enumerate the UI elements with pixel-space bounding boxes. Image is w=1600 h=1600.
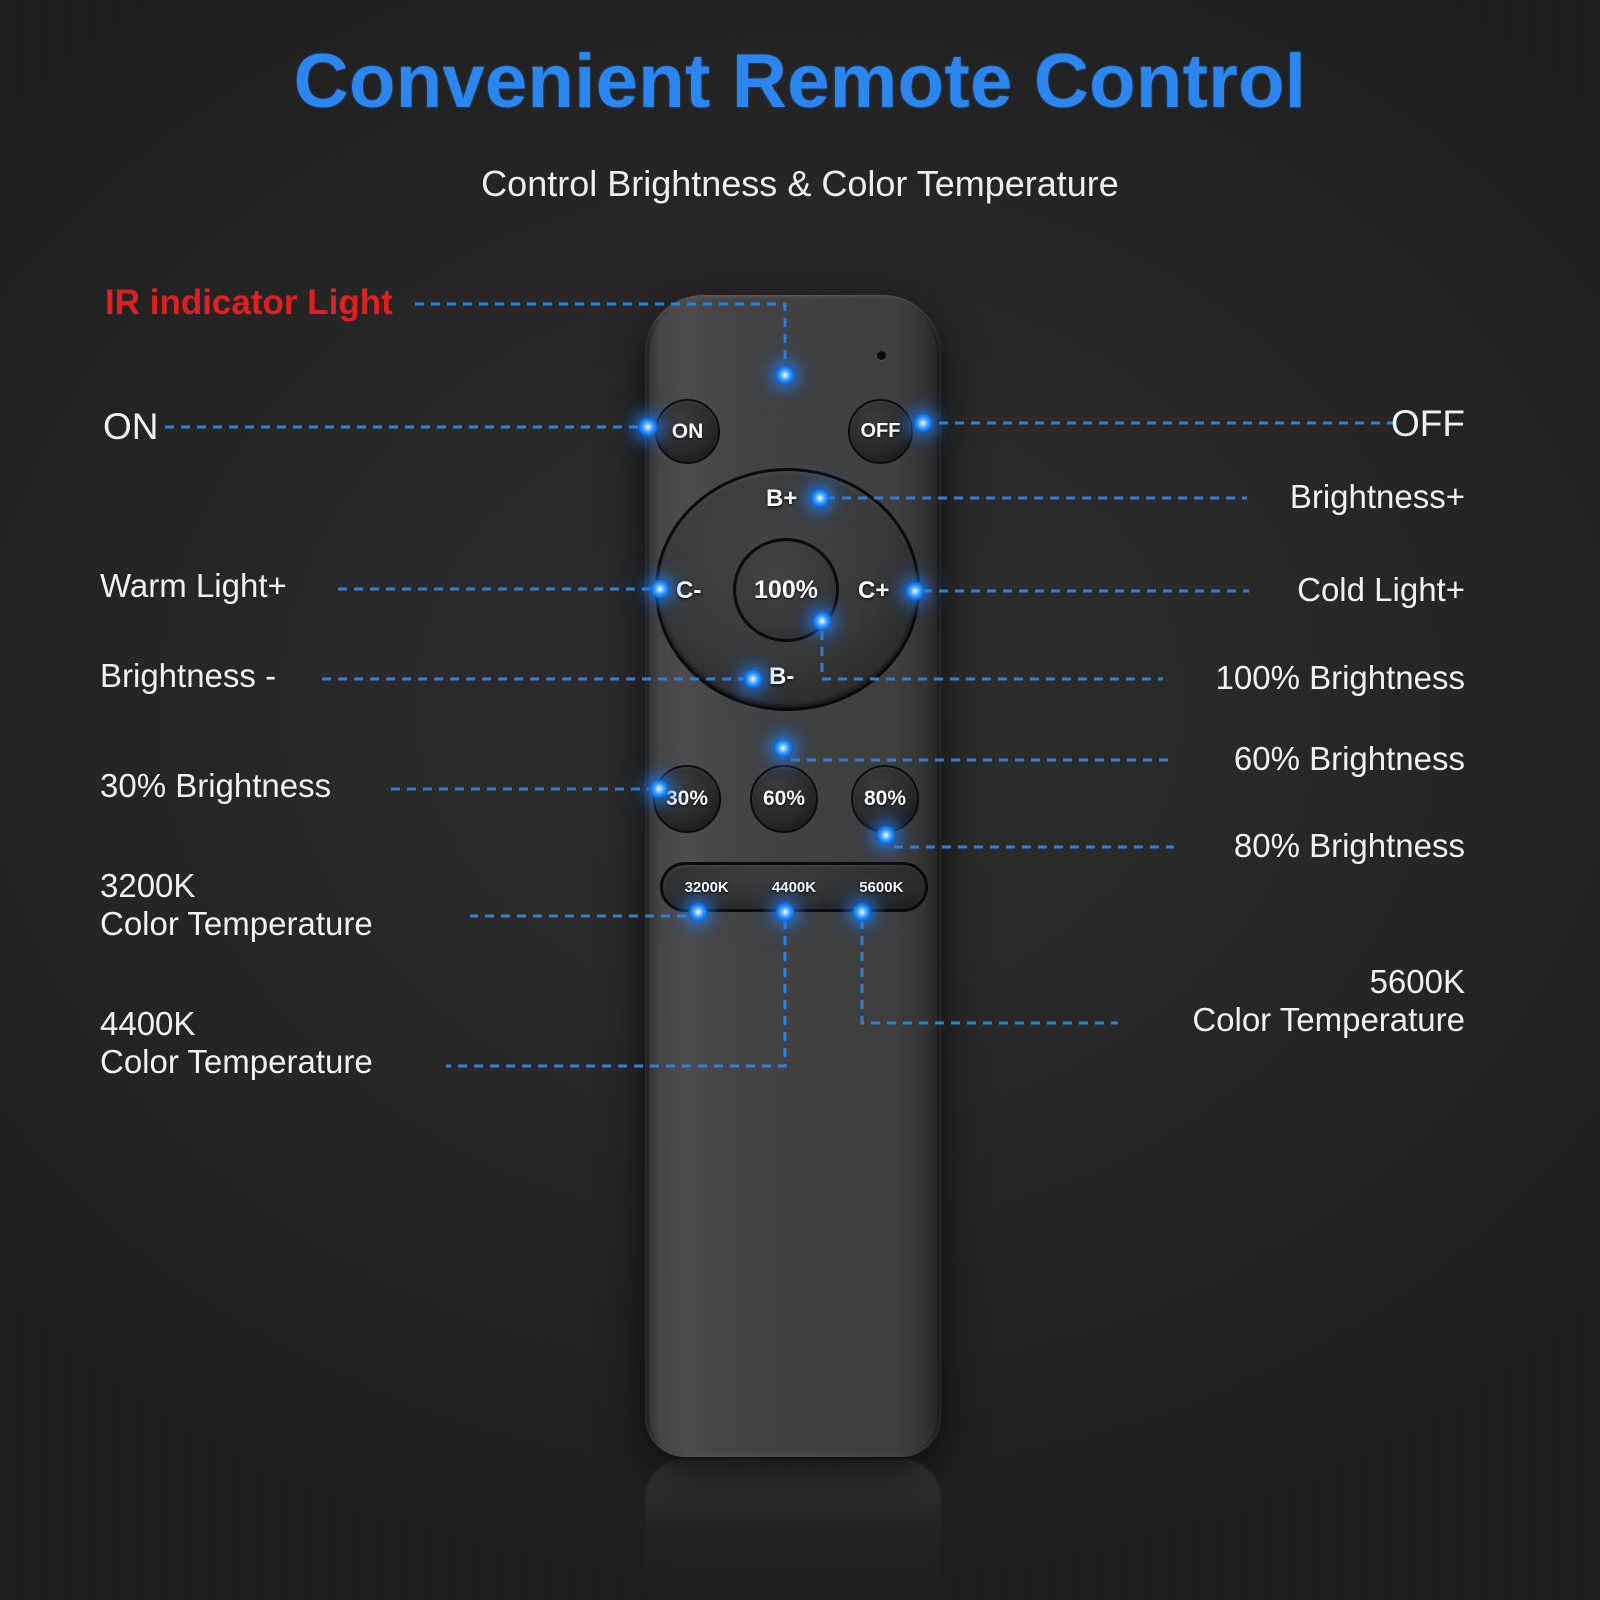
callout-ct-3200: 3200K Color Temperature	[100, 867, 373, 944]
glow-dot-brightness-30	[649, 779, 669, 799]
glow-dot-brightness-minus	[743, 669, 763, 689]
glow-dot-brightness-80	[876, 825, 896, 845]
callout-ir-indicator-light: IR indicator Light	[105, 283, 393, 324]
callout-brightness-100: 100% Brightness	[1216, 659, 1465, 697]
callout-brightness-60: 60% Brightness	[1234, 740, 1465, 778]
glow-dot-warm-light-plus	[650, 579, 670, 599]
remote-label-color-plus[interactable]: C+	[858, 577, 889, 605]
ir-sensor-pinhole-icon	[877, 351, 886, 360]
remote-button-4400k[interactable]: 4400K	[772, 879, 816, 896]
glow-dot-brightness-60	[773, 738, 793, 758]
remote-label-brightness-up[interactable]: B+	[766, 485, 797, 513]
callout-ct-4400-value: 4400K	[100, 1005, 373, 1043]
remote-button-60-percent[interactable]: 60%	[750, 765, 818, 833]
callout-cold-light-plus: Cold Light+	[1297, 571, 1465, 609]
remote-button-5600k[interactable]: 5600K	[859, 879, 903, 896]
callout-brightness-minus: Brightness -	[100, 657, 276, 695]
callout-on: ON	[103, 406, 159, 449]
remote-label-color-minus[interactable]: C-	[676, 577, 701, 605]
glow-dot-brightness-plus	[810, 488, 830, 508]
page-title: Convenient Remote Control	[0, 38, 1600, 125]
glow-dot-off	[913, 413, 933, 433]
remote-button-on[interactable]: ON	[655, 399, 720, 464]
glow-dot-ct-4400	[775, 902, 795, 922]
glow-dot-ir-indicator	[775, 365, 795, 385]
callout-ct-4400: 4400K Color Temperature	[100, 1005, 373, 1082]
remote-button-off[interactable]: OFF	[848, 399, 913, 464]
remote-reflection	[645, 1459, 941, 1600]
glow-dot-ct-5600	[852, 902, 872, 922]
callout-brightness-80: 80% Brightness	[1234, 827, 1465, 865]
glow-dot-brightness-100	[812, 611, 832, 631]
glow-dot-ct-3200	[688, 902, 708, 922]
remote-button-80-percent[interactable]: 80%	[851, 765, 919, 833]
callout-off: OFF	[1391, 403, 1465, 446]
callout-ct-3200-caption: Color Temperature	[100, 905, 373, 943]
remote-button-30-percent[interactable]: 30%	[653, 765, 721, 833]
remote-label-brightness-down[interactable]: B-	[769, 663, 794, 691]
glow-dot-cold-light-plus	[905, 581, 925, 601]
callout-ct-4400-caption: Color Temperature	[100, 1043, 373, 1081]
callout-brightness-30: 30% Brightness	[100, 767, 331, 805]
callout-ct-5600: 5600K Color Temperature	[1192, 963, 1465, 1040]
remote-control-infographic: Convenient Remote Control Control Bright…	[0, 0, 1600, 1600]
callout-ct-5600-caption: Color Temperature	[1192, 1001, 1465, 1039]
callout-ct-5600-value: 5600K	[1192, 963, 1465, 1001]
remote-button-3200k[interactable]: 3200K	[685, 879, 729, 896]
callout-warm-light-plus: Warm Light+	[100, 567, 287, 605]
glow-dot-on	[638, 417, 658, 437]
callout-brightness-plus: Brightness+	[1290, 478, 1465, 516]
page-subtitle: Control Brightness & Color Temperature	[0, 163, 1600, 205]
callout-ct-3200-value: 3200K	[100, 867, 373, 905]
